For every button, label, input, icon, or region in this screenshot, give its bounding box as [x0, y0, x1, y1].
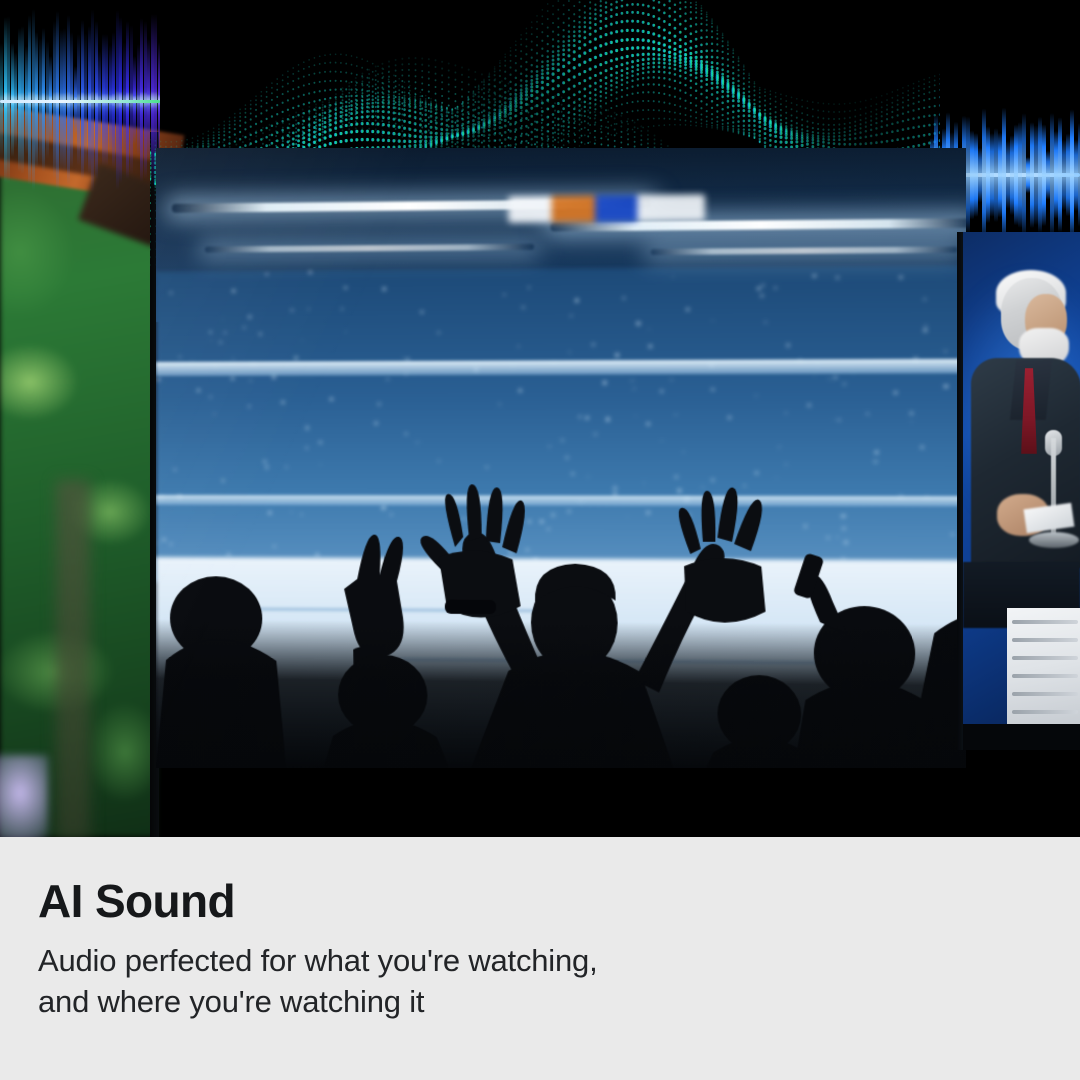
- news-anchor-panel: [963, 232, 1080, 750]
- foreground-shadow: [156, 619, 966, 768]
- hero-image: [0, 0, 1080, 837]
- desk-panel-slat: [1012, 620, 1078, 624]
- desk-panel-slat: [1012, 692, 1078, 696]
- product-feature-card: AI Sound Audio perfected for what you're…: [0, 0, 1080, 1080]
- caption-subtitle: Audio perfected for what you're watching…: [38, 941, 598, 1023]
- caption-subtitle-line-2: and where you're watching it: [38, 982, 598, 1023]
- anchor-panel-shadow: [963, 724, 1080, 750]
- desk-panel-slat: [1012, 710, 1078, 714]
- spectrum-bars-overlay: [0, 0, 160, 200]
- desk-panel-slat: [1012, 638, 1078, 642]
- page-title: AI Sound: [38, 878, 235, 924]
- desk-panel-slat: [1012, 674, 1078, 678]
- desk-front-panel: [1007, 608, 1080, 726]
- caption-band: AI Sound Audio perfected for what you're…: [0, 837, 1080, 1080]
- lavender-highlight: [0, 755, 48, 837]
- tv-stadium-panel: [156, 148, 966, 768]
- desk-panel-slat: [1012, 656, 1078, 660]
- caption-subtitle-line-1: Audio perfected for what you're watching…: [38, 941, 598, 982]
- spectrum-core-line: [0, 100, 160, 103]
- tree-trunk: [56, 480, 90, 837]
- microphone-base: [1029, 532, 1079, 548]
